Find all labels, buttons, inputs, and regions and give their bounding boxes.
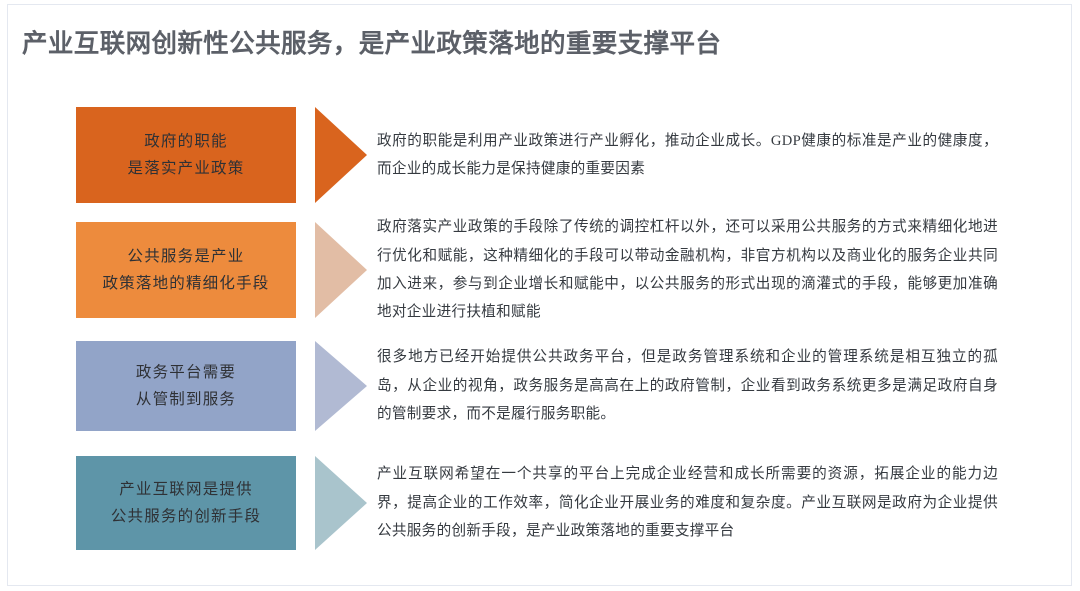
arrow-right-shape [315, 107, 367, 203]
slide-canvas: 产业互联网创新性公共服务，是产业政策落地的重要支撑平台 政府的职能 是落实产业政… [7, 4, 1072, 586]
row-description: 产业互联网希望在一个共享的平台上完成企业经营和成长所需要的资源，拓展企业的能力边… [377, 456, 1012, 550]
row-label-box[interactable]: 产业互联网是提供 公共服务的创新手段 [76, 456, 296, 550]
process-row-list: 政府的职能 是落实产业政策 政府的职能是利用产业政策进行产业孵化，推动企业成长。… [8, 5, 1071, 585]
row-label-box[interactable]: 公共服务是产业 政策落地的精细化手段 [76, 222, 296, 318]
row-label-box[interactable]: 政务平台需要 从管制到服务 [76, 341, 296, 431]
arrow-right-icon [315, 456, 367, 550]
arrow-right-shape [315, 222, 367, 318]
process-row: 政务平台需要 从管制到服务 很多地方已经开始提供公共政务平台，但是政务管理系统和… [76, 341, 1012, 431]
arrow-right-icon [315, 222, 367, 318]
arrow-right-shape [315, 456, 367, 550]
arrow-right-icon [315, 341, 367, 431]
arrow-right-icon [315, 107, 367, 203]
row-body: 政府落实产业政策的手段除了传统的调控杠杆以外，还可以采用公共服务的方式来精细化地… [315, 222, 1012, 318]
process-row: 产业互联网是提供 公共服务的创新手段 产业互联网希望在一个共享的平台上完成企业经… [76, 456, 1012, 550]
row-body: 产业互联网希望在一个共享的平台上完成企业经营和成长所需要的资源，拓展企业的能力边… [315, 456, 1012, 550]
row-description: 政府的职能是利用产业政策进行产业孵化，推动企业成长。GDP健康的标准是产业的健康… [377, 107, 1012, 203]
row-description: 政府落实产业政策的手段除了传统的调控杠杆以外，还可以采用公共服务的方式来精细化地… [377, 222, 1012, 318]
row-body: 很多地方已经开始提供公共政务平台，但是政务管理系统和企业的管理系统是相互独立的孤… [315, 341, 1012, 431]
row-description: 很多地方已经开始提供公共政务平台，但是政务管理系统和企业的管理系统是相互独立的孤… [377, 341, 1012, 431]
process-row: 公共服务是产业 政策落地的精细化手段 政府落实产业政策的手段除了传统的调控杠杆以… [76, 222, 1012, 318]
row-label-box[interactable]: 政府的职能 是落实产业政策 [76, 107, 296, 203]
arrow-right-shape [315, 341, 367, 431]
row-body: 政府的职能是利用产业政策进行产业孵化，推动企业成长。GDP健康的标准是产业的健康… [315, 107, 1012, 203]
process-row: 政府的职能 是落实产业政策 政府的职能是利用产业政策进行产业孵化，推动企业成长。… [76, 107, 1012, 203]
